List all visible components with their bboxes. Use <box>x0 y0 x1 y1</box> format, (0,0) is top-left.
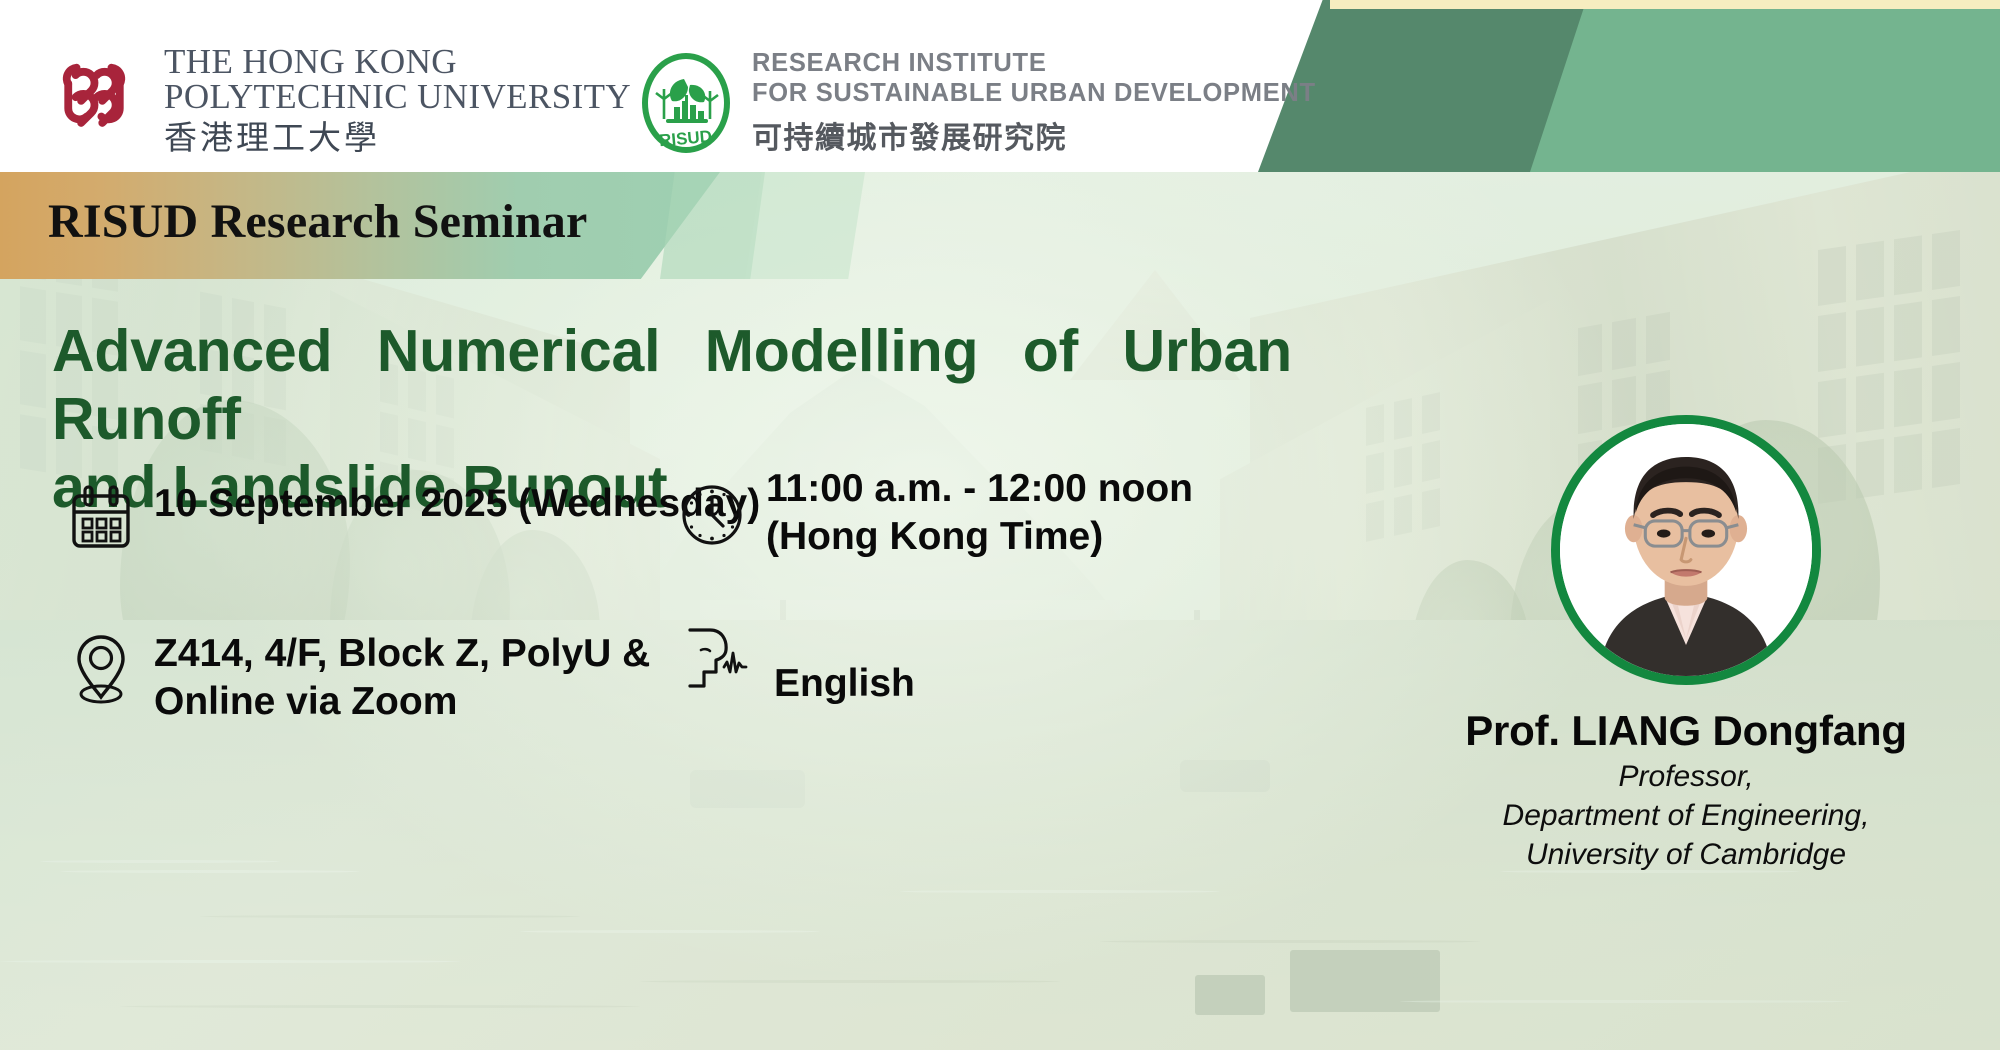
speaking-head-icon <box>680 620 752 703</box>
detail-language-text: English <box>774 660 915 708</box>
speaker-portrait-icon <box>1560 424 1812 676</box>
detail-venue: Z414, 4/F, Block Z, PolyU & Online via Z… <box>70 630 650 725</box>
polyu-name-chinese: 香港理工大學 <box>164 121 631 154</box>
detail-venue-text: Z414, 4/F, Block Z, PolyU & Online via Z… <box>154 630 650 725</box>
detail-language: English <box>680 638 915 708</box>
detail-date: 10 September 2025 (Wednesday) <box>70 480 760 555</box>
calendar-icon <box>70 484 132 555</box>
page-title-line1: Advanced Numerical Modelling of Urban Ru… <box>52 318 1292 454</box>
seminar-poster: THE HONG KONG POLYTECHNIC UNIVERSITY 香港理… <box>0 0 2000 1050</box>
clock-icon <box>680 483 744 552</box>
risud-leaf-icon: RISUD <box>640 51 732 155</box>
location-pin-icon <box>70 632 132 709</box>
decor-parallelogram-light <box>1530 0 2000 172</box>
polyu-wordmark: THE HONG KONG POLYTECHNIC UNIVERSITY 香港理… <box>164 44 631 154</box>
risud-name-line2: FOR SUSTAINABLE URBAN DEVELOPMENT <box>752 78 1316 108</box>
detail-time: 11:00 a.m. - 12:00 noon (Hong Kong Time) <box>680 465 1193 560</box>
risud-logo: RISUD RESEARCH INSTITUTE FOR SUSTAINABLE… <box>640 48 1316 157</box>
speaker-affiliation: Professor, Department of Engineering, Un… <box>1430 757 1942 874</box>
risud-wordmark: RESEARCH INSTITUTE FOR SUSTAINABLE URBAN… <box>752 48 1316 157</box>
seminar-ribbon: RISUD Research Seminar <box>0 172 1000 279</box>
ribbon-label: RISUD Research Seminar <box>48 194 587 249</box>
detail-date-text: 10 September 2025 (Wednesday) <box>154 480 760 528</box>
avatar <box>1551 415 1821 685</box>
speaker-name: Prof. LIANG Dongfang <box>1430 707 1942 755</box>
polyu-name-line2: POLYTECHNIC UNIVERSITY <box>164 79 631 114</box>
risud-name-chinese: 可持續城市發展研究院 <box>752 113 1316 157</box>
risud-name-line1: RESEARCH INSTITUTE <box>752 48 1316 78</box>
polyu-name-line1: THE HONG KONG <box>164 44 631 79</box>
ribbon-accent-slice-2 <box>745 172 865 279</box>
polyu-knot-icon <box>48 53 140 145</box>
detail-time-text: 11:00 a.m. - 12:00 noon (Hong Kong Time) <box>766 465 1193 560</box>
polyu-logo: THE HONG KONG POLYTECHNIC UNIVERSITY 香港理… <box>48 44 631 154</box>
decor-yellow-strip <box>1330 0 2000 9</box>
speaker-block: Prof. LIANG Dongfang Professor, Departme… <box>1430 415 1942 874</box>
